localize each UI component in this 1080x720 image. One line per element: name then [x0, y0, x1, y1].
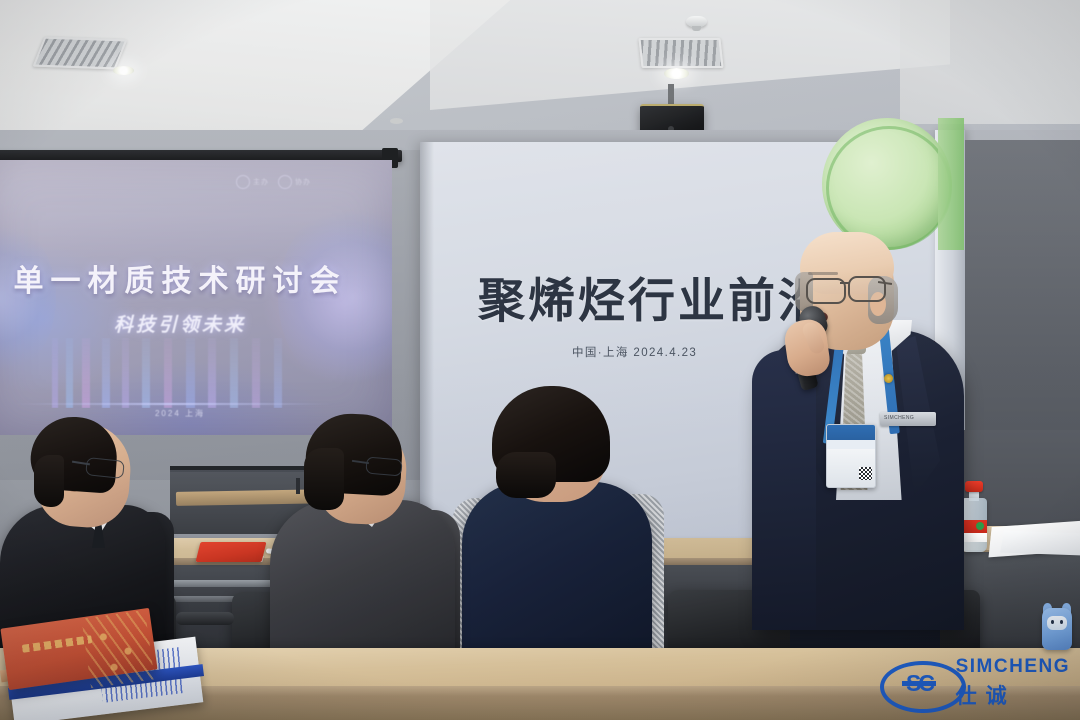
speaker-arm-left: [752, 350, 816, 630]
attendee-3-hair-nape: [496, 452, 556, 498]
red-notebook: [196, 542, 267, 562]
air-vent-icon: [33, 37, 128, 70]
lapel-pin-icon: [884, 374, 893, 383]
screen-logo-row: 主办 协办: [236, 174, 366, 190]
mascot-eye-right: [1060, 620, 1063, 624]
host-logo-mark-icon: [278, 175, 292, 189]
attendee-1-hair-side: [34, 455, 64, 507]
screen-subtitle: 科技引领未来: [0, 310, 380, 337]
screen-host-logo-1-label: 主办: [253, 177, 269, 187]
air-vent-icon: [638, 38, 723, 68]
downlight-icon: [664, 68, 689, 79]
glasses-icon: [85, 457, 125, 479]
projection-screen: 主办 协办 单一材质技术研讨会 科技引领未来 2024 上海: [0, 160, 392, 435]
attendee-3-body: [462, 482, 652, 658]
ceiling-sensor-icon: [390, 118, 403, 124]
backdrop-title: 聚烯烃行业前沿: [478, 262, 808, 331]
screen-baseline-glow: [8, 403, 338, 405]
glasses-icon: [848, 276, 886, 302]
desk-microphone-icon: [296, 478, 300, 494]
mascot-eye-left: [1051, 620, 1054, 624]
green-circle-wrap: [938, 118, 964, 250]
speaker-name-badge-text: SIMCHENG: [884, 415, 932, 421]
qr-code-icon: [859, 467, 872, 480]
glasses-icon: [365, 456, 402, 476]
bottle-label-mark-icon: [976, 522, 984, 530]
badge-subband: [827, 440, 875, 449]
watermark-chinese: 仕诚: [956, 680, 1070, 710]
host-logo-mark-icon: [236, 175, 250, 189]
screen-host-logo-1: 主办: [236, 176, 269, 188]
downlight-icon: [113, 66, 134, 75]
simcheng-monogram-icon: SC: [880, 657, 946, 709]
monogram-bar: [902, 681, 936, 686]
backdrop-subtitle: 中国·上海 2024.4.23: [572, 344, 697, 360]
papers-secondary: [1000, 531, 1080, 556]
screen-host-logo-2: 协办: [278, 176, 311, 188]
watermark-logo: SC SIMCHENG 仕诚: [880, 652, 1070, 714]
screen-title: 单一材质技术研讨会: [0, 256, 380, 300]
screen-skyline-graphic: [46, 338, 296, 408]
watermark-english: SIMCHENG: [956, 656, 1070, 678]
speaker-eyebrow: [808, 272, 838, 275]
watermark-text: SIMCHENG 仕诚: [956, 656, 1070, 710]
badge-header-band: [827, 425, 875, 440]
screen-host-logo-2-label: 协办: [295, 177, 311, 187]
glasses-bridge: [840, 282, 850, 284]
smoke-detector-stem: [692, 26, 701, 31]
conference-badge: [826, 424, 876, 488]
attendee-2-hair-back: [304, 448, 344, 510]
ceiling-right-plane: [900, 0, 1080, 124]
book-gold-pattern: [81, 610, 154, 688]
conference-photo-scene: 主办 协办 单一材质技术研讨会 科技引领未来 2024 上海: [0, 0, 1080, 720]
mascot-face: [1047, 616, 1067, 630]
bottle-cap-icon: [965, 481, 983, 492]
screen-footer: 2024 上海: [0, 408, 380, 419]
chair-armrest: [176, 612, 234, 625]
